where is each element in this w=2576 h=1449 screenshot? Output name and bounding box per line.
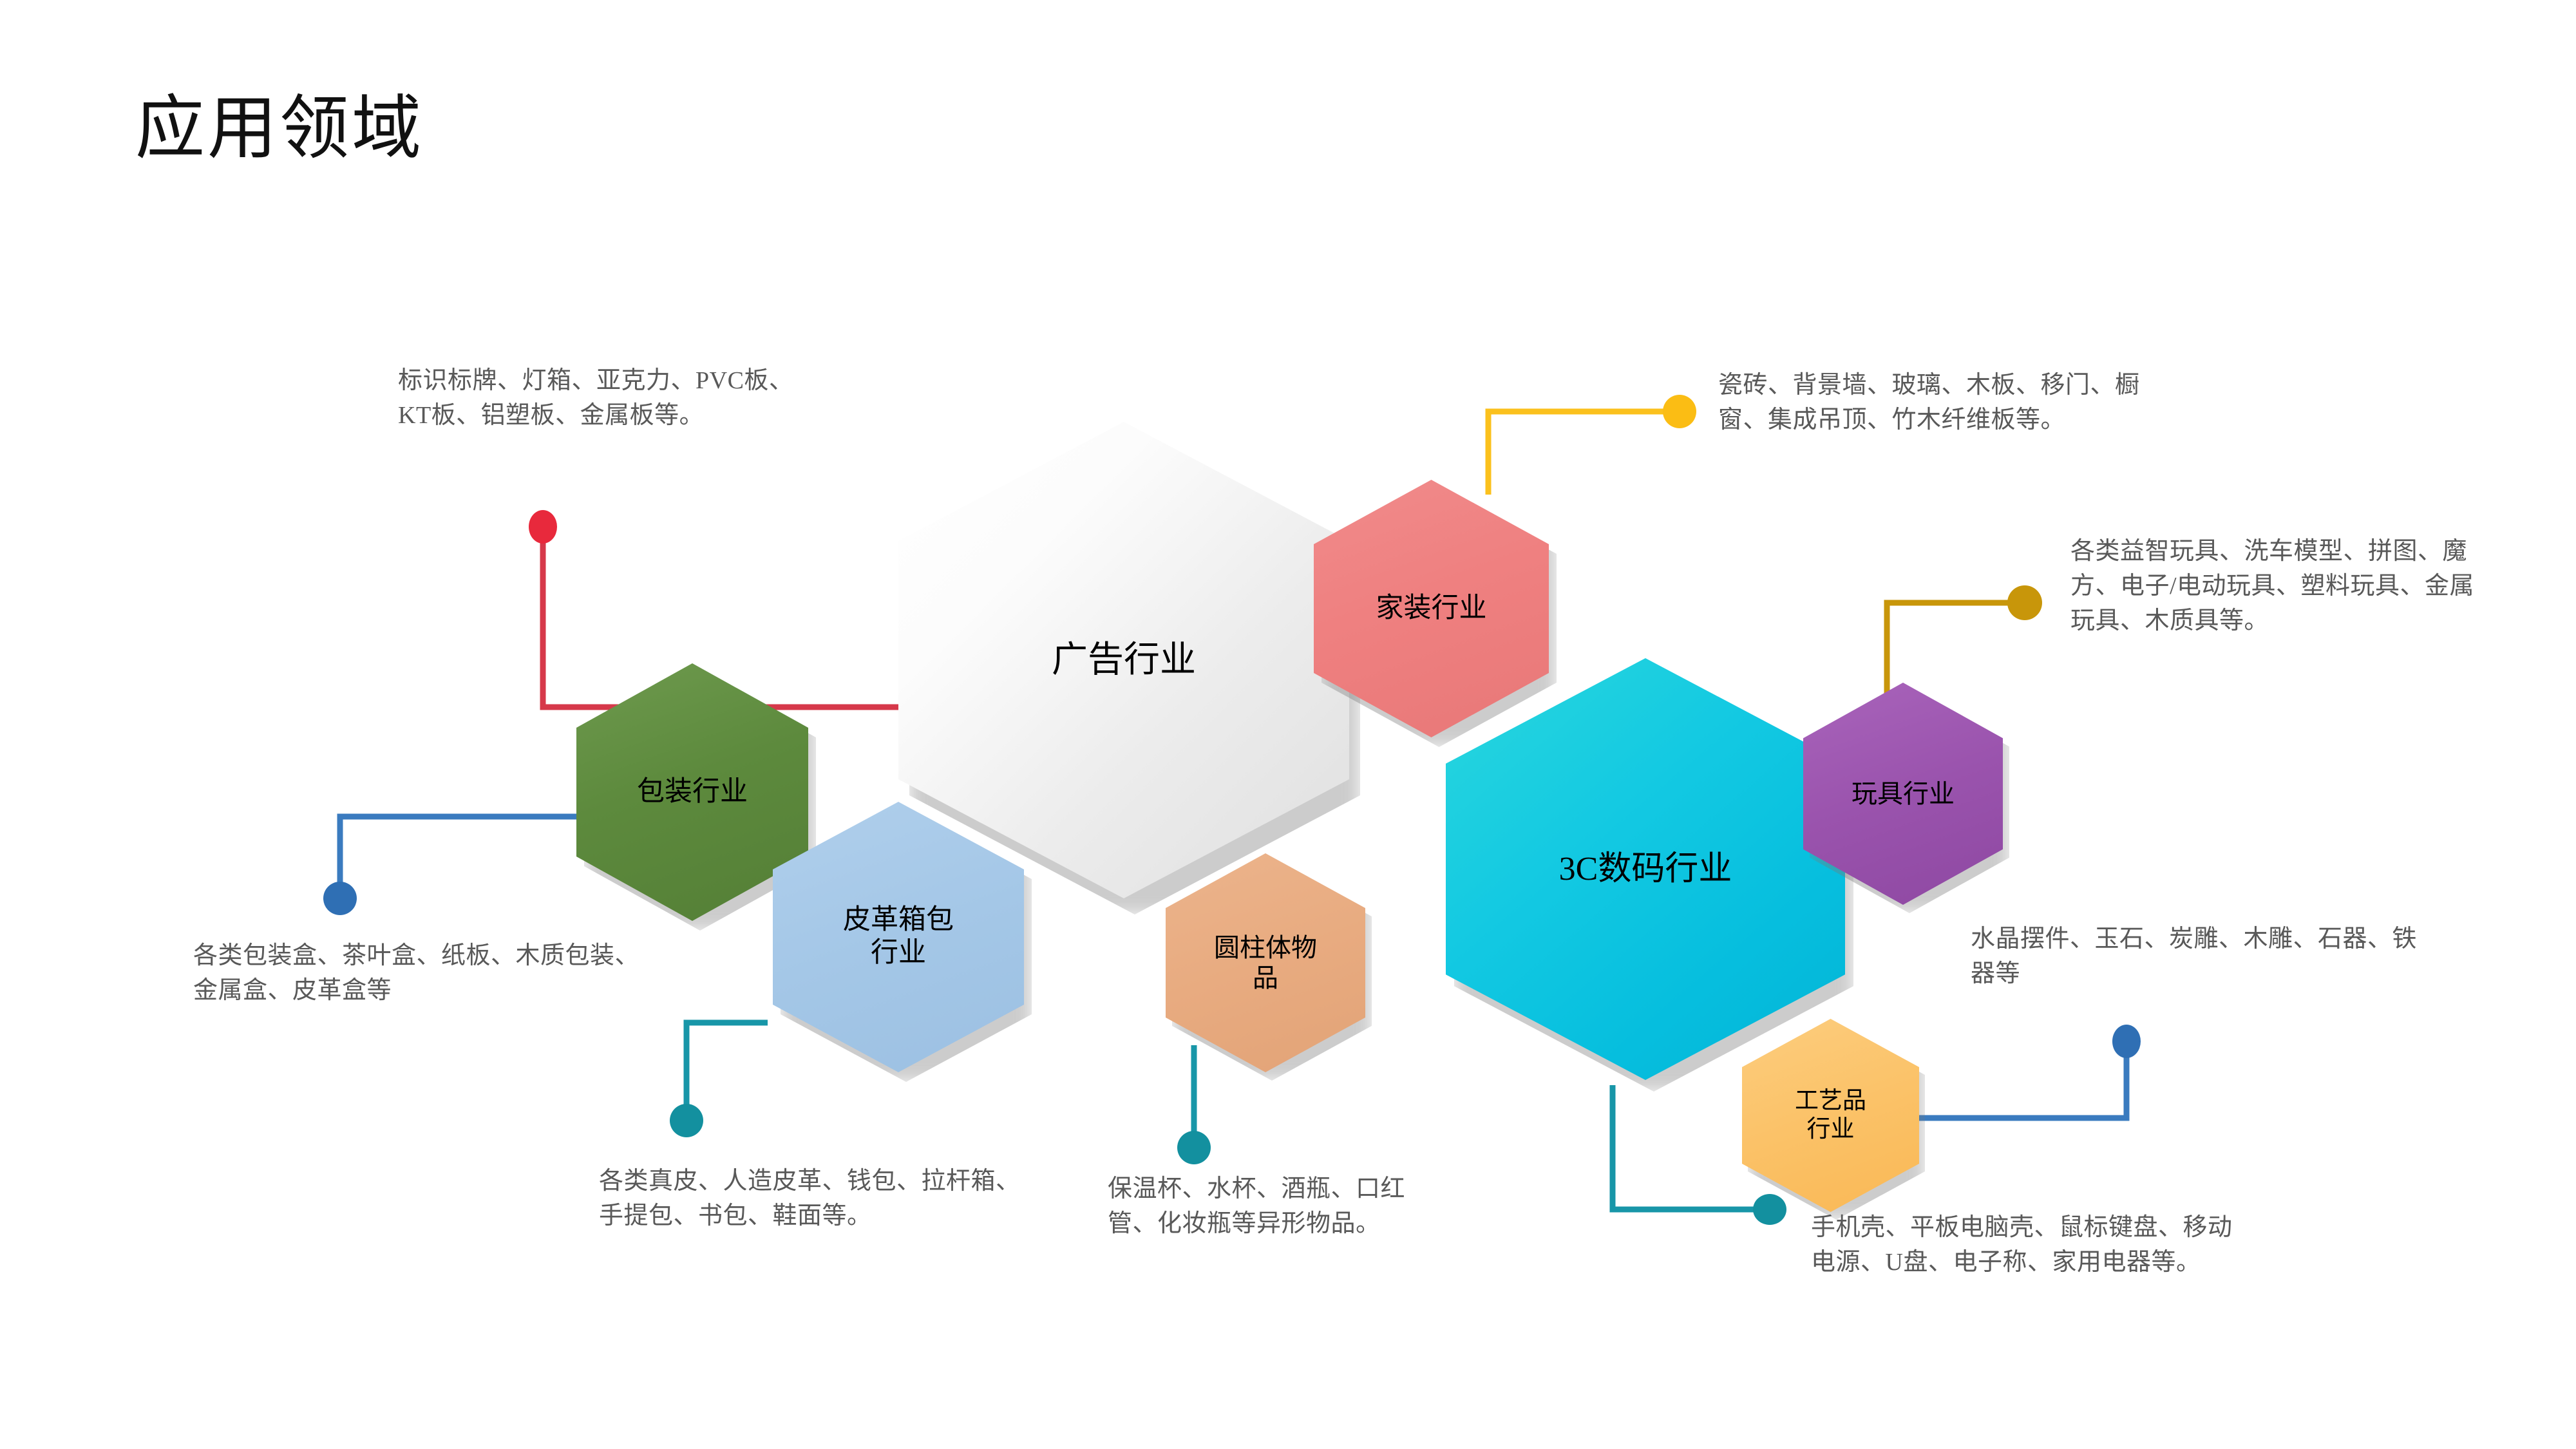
hexagon-cylindrical-items-label-line1: 圆柱体物 bbox=[1214, 933, 1317, 962]
hexagon-crafts-label-line1: 工艺品 bbox=[1795, 1088, 1866, 1114]
description-toys: 各类益智玩具、洗车模型、拼图、魔方、电子/电动玩具、塑料玩具、金属玩具、木质具等… bbox=[2070, 535, 2495, 639]
hexagon-home-decoration-label: 家装行业 bbox=[1362, 592, 1501, 625]
crafts-connector bbox=[1906, 1025, 2141, 1118]
description-3c-digital: 手机壳、平板电脑壳、鼠标键盘、移动电源、U盘、电子称、家用电器等。 bbox=[1811, 1211, 2255, 1280]
hexagon-3c-digital-label: 3C数码行业 bbox=[1535, 849, 1756, 889]
hexagon-advertising-label: 广告行业 bbox=[1025, 639, 1223, 681]
hexagon-toys-label: 玩具行业 bbox=[1839, 779, 1966, 809]
description-advertising: 标识标牌、灯箱、亚克力、PVC板、KT板、铝塑板、金属板等。 bbox=[398, 364, 823, 433]
leather-luggage-connector bbox=[670, 1023, 768, 1137]
hexagon-leather-luggage-label: 皮革箱包 行业 bbox=[828, 904, 969, 969]
hexagon-packaging-label: 包装行业 bbox=[623, 776, 761, 809]
description-home-decoration: 瓷砖、背景墙、玻璃、木板、移门、橱窗、集成吊顶、竹木纤维板等。 bbox=[1718, 368, 2143, 438]
hexagon-cylindrical-items-label-line2: 品 bbox=[1253, 963, 1278, 992]
description-packaging: 各类包装盒、茶叶盒、纸板、木质包装、金属盒、皮革盒等 bbox=[193, 939, 650, 1009]
hexagon-crafts-label-line2: 行业 bbox=[1807, 1116, 1855, 1142]
hexagon-leather-luggage-label-line1: 皮革箱包 bbox=[843, 905, 954, 935]
home-decoration-connector bbox=[1488, 395, 1696, 495]
packaging-connector bbox=[323, 817, 581, 915]
hexagon-cylindrical-items-label: 圆柱体物 品 bbox=[1202, 933, 1329, 993]
infographic-canvas: 应用领域 bbox=[0, 0, 2576, 1449]
description-leather-luggage: 各类真皮、人造皮革、钱包、拉杆箱、手提包、书包、鞋面等。 bbox=[599, 1164, 1024, 1234]
hexagon-leather-luggage-label-line2: 行业 bbox=[871, 938, 926, 968]
cylindrical-items-connector bbox=[1177, 1045, 1211, 1164]
hexagon-crafts-label: 工艺品 行业 bbox=[1785, 1087, 1877, 1143]
description-cylindrical-items: 保温杯、水杯、酒瓶、口红管、化妆瓶等异形物品。 bbox=[1108, 1172, 1449, 1242]
description-crafts: 水晶摆件、玉石、炭雕、木雕、石器、铁器等 bbox=[1971, 922, 2421, 992]
toys-connector bbox=[1887, 585, 2042, 697]
